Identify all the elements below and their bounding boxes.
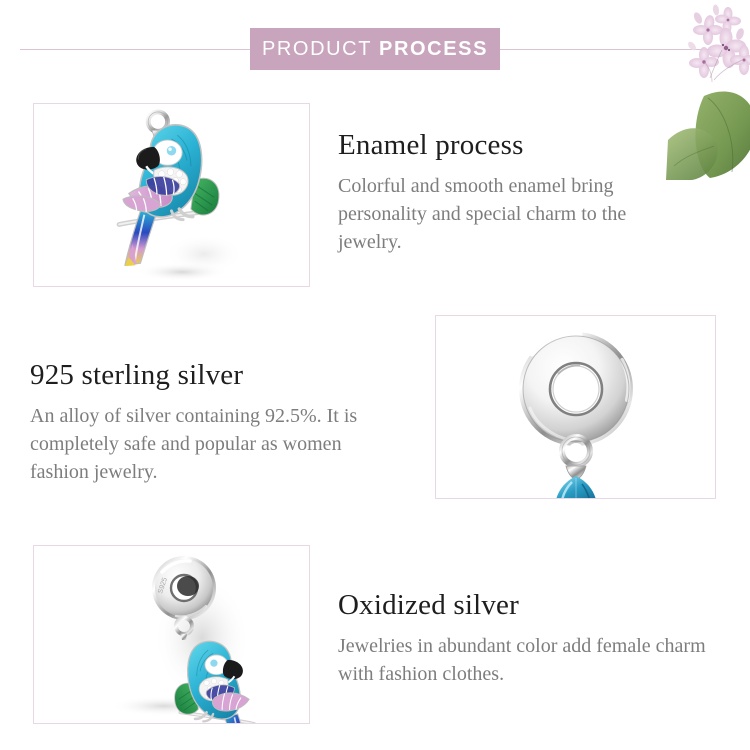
header-title-light: PRODUCT (262, 38, 372, 61)
product-image-panel-enamel (33, 103, 310, 287)
heading-sterling-silver: 925 sterling silver (30, 358, 380, 392)
heading-oxidized-silver: Oxidized silver (338, 588, 718, 622)
body-sterling-silver: An alloy of silver containing 92.5%. It … (30, 402, 380, 486)
text-block-oxidized-silver: Oxidized silver Jewelries in abundant co… (338, 588, 718, 688)
text-block-enamel-process: Enamel process Colorful and smooth ename… (338, 128, 638, 256)
heading-enamel-process: Enamel process (338, 128, 638, 162)
product-image-panel-sterling-silver (435, 315, 716, 499)
header-banner: PRODUCT PROCESS (250, 28, 500, 70)
product-image-panel-oxidized-silver: S925 (33, 545, 310, 724)
body-enamel-process: Colorful and smooth enamel bring persona… (338, 172, 638, 256)
body-oxidized-silver: Jewelries in abundant color add female c… (338, 632, 718, 688)
page-header: PRODUCT PROCESS (0, 0, 750, 100)
text-block-sterling-silver: 925 sterling silver An alloy of silver c… (30, 358, 380, 486)
header-title-bold: PROCESS (379, 38, 488, 61)
